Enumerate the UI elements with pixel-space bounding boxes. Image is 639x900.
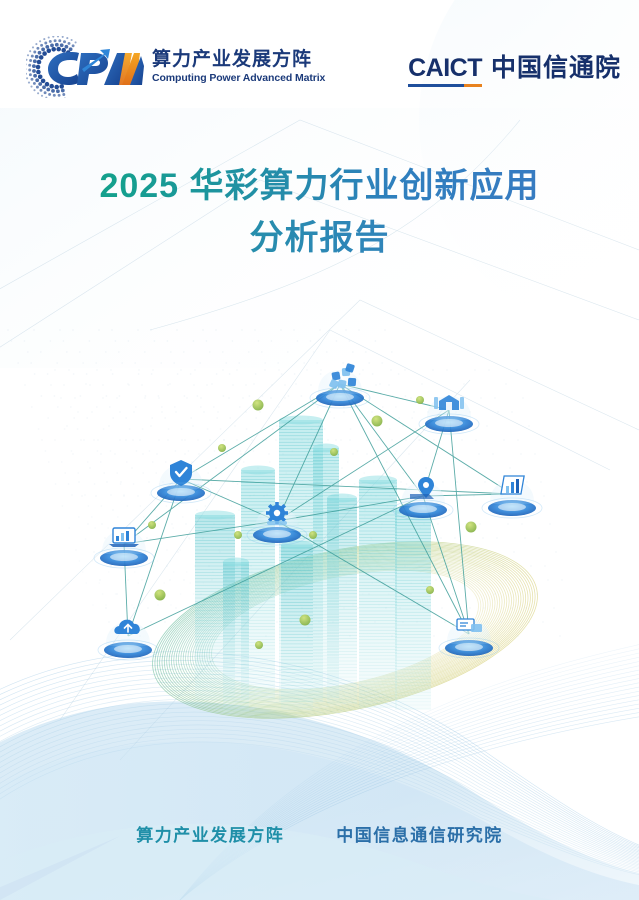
icon-pod-report — [482, 476, 542, 518]
gear-settings-icon — [266, 502, 288, 525]
cpam-logo[interactable]: 算力产业发展方阵 Computing Power Advanced Matrix — [26, 36, 325, 98]
city-buildings — [195, 416, 431, 713]
cover-title: 2025 华彩算力行业创新应用 分析报告 — [0, 160, 639, 264]
caict-name-cn: 中国信通院 — [491, 48, 621, 84]
cloud-upload-icon — [114, 620, 139, 634]
caict-logo[interactable]: CAICT 中国信通院 — [408, 48, 621, 84]
caict-acronym: CAICT — [408, 54, 482, 82]
cpam-name-en: Computing Power Advanced Matrix — [152, 73, 325, 84]
footer-org-right: 中国信息通信研究院 — [336, 821, 503, 846]
footer-org-left: 算力产业发展方阵 — [136, 821, 284, 846]
icon-pod-media — [439, 619, 499, 658]
report-cover-page: 算力产业发展方阵 Computing Power Advanced Matrix… — [0, 0, 639, 900]
computing-power-network-illustration — [45, 300, 605, 730]
caict-underline — [408, 84, 482, 87]
bar-chart-doc-icon — [501, 476, 524, 494]
icon-pod-cubes — [310, 363, 370, 408]
cover-footer: 算力产业发展方阵 中国信息通信研究院 — [0, 821, 639, 846]
icon-pod-location — [393, 477, 453, 520]
cover-header: 算力产业发展方阵 Computing Power Advanced Matrix… — [0, 0, 639, 118]
icon-pod-factory — [419, 395, 479, 434]
icon-pod-monitor — [94, 528, 154, 568]
laptop-chart-icon — [109, 528, 139, 547]
title-line-1: 2025 华彩算力行业创新应用 — [0, 160, 639, 212]
title-line-2: 分析报告 — [0, 212, 639, 264]
cpam-name-cn: 算力产业发展方阵 — [152, 50, 325, 69]
cpam-logo-mark — [26, 36, 144, 98]
